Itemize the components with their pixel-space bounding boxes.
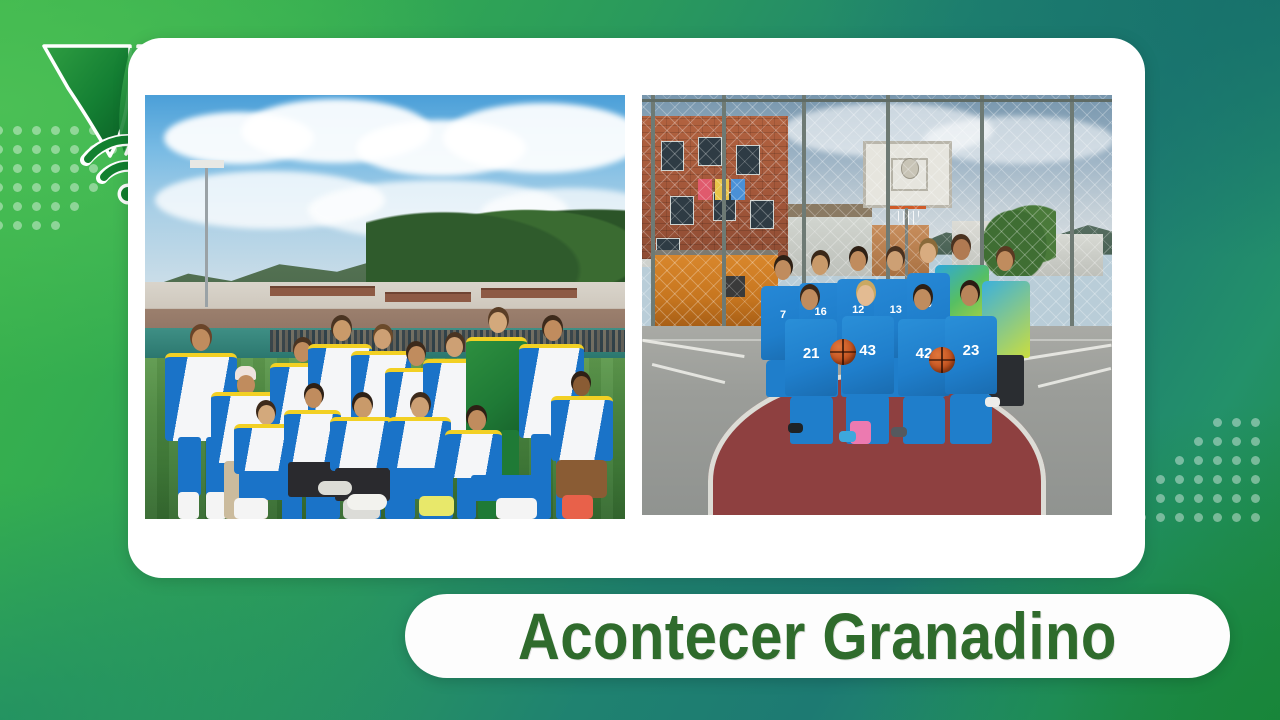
dot xyxy=(1232,513,1241,522)
dot-row xyxy=(1130,494,1270,513)
dot xyxy=(1213,456,1222,465)
basketball xyxy=(830,339,856,365)
dot xyxy=(13,221,22,230)
dot xyxy=(1156,513,1165,522)
dot xyxy=(1194,475,1203,484)
dot xyxy=(1175,513,1184,522)
dot xyxy=(1156,494,1165,503)
dot-row xyxy=(1130,513,1270,532)
dot xyxy=(0,202,3,211)
dot-row xyxy=(1130,437,1270,456)
dot xyxy=(1213,494,1222,503)
page-title: Acontecer Granadino xyxy=(518,603,1117,669)
player-front-21: 21 xyxy=(783,284,839,444)
basketball xyxy=(929,347,955,373)
dot xyxy=(1251,494,1260,503)
dot xyxy=(0,164,3,173)
dot xyxy=(0,126,3,135)
dot xyxy=(1175,475,1184,484)
dot-row xyxy=(1130,475,1270,494)
dot xyxy=(13,145,22,154)
dot-pattern-right xyxy=(1130,418,1270,532)
dot xyxy=(0,221,3,230)
dot xyxy=(13,202,22,211)
dot xyxy=(1251,513,1260,522)
dot xyxy=(32,221,41,230)
dot xyxy=(1232,475,1241,484)
dot xyxy=(1175,494,1184,503)
dot-row xyxy=(1130,418,1270,437)
photo-soccer-team xyxy=(145,95,625,519)
dot-row xyxy=(1130,456,1270,475)
dot xyxy=(1232,494,1241,503)
dot xyxy=(1251,456,1260,465)
dot xyxy=(1194,513,1203,522)
dot xyxy=(0,145,3,154)
dot xyxy=(13,126,22,135)
dot xyxy=(1213,475,1222,484)
dot xyxy=(1213,513,1222,522)
dot xyxy=(1175,456,1184,465)
dot xyxy=(1194,494,1203,503)
dot xyxy=(1251,475,1260,484)
dot xyxy=(1194,456,1203,465)
title-banner: Acontecer Granadino xyxy=(405,594,1230,678)
dot xyxy=(1213,437,1222,446)
dot xyxy=(1232,456,1241,465)
dot xyxy=(1251,418,1260,427)
dot xyxy=(13,164,22,173)
dot xyxy=(1213,418,1222,427)
dot-row xyxy=(0,221,127,240)
dot xyxy=(51,221,60,230)
dot xyxy=(1232,437,1241,446)
dot xyxy=(1194,437,1203,446)
photo-basketball-team: 7 16 12 13 6 xyxy=(642,95,1112,515)
dot xyxy=(1156,475,1165,484)
dot xyxy=(1251,437,1260,446)
dot xyxy=(1232,418,1241,427)
dot xyxy=(13,183,22,192)
dot xyxy=(0,183,3,192)
